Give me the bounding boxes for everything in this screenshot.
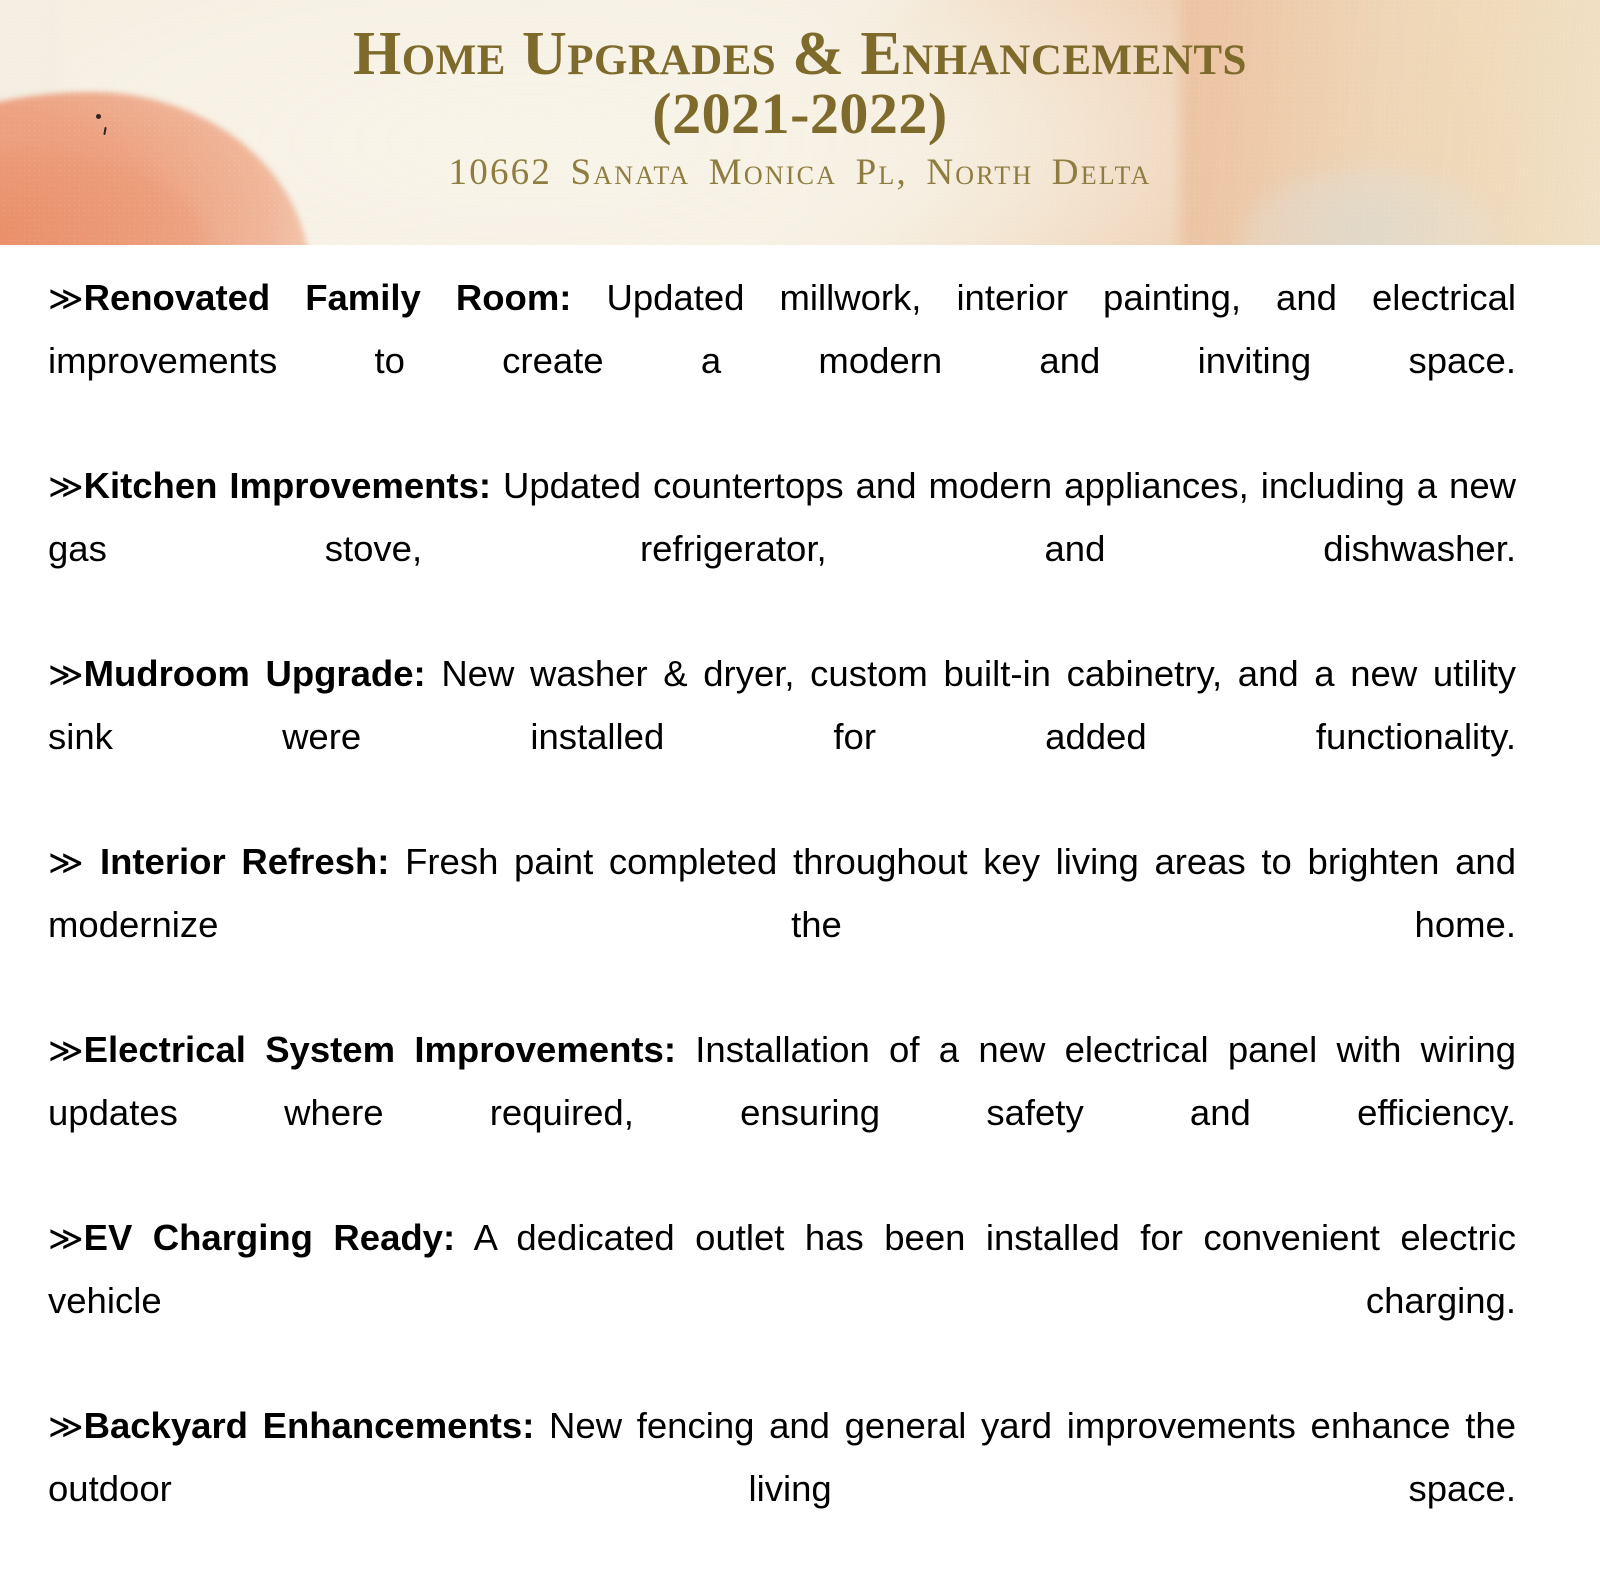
property-address: 10662 Sanata Monica Pl, North Delta xyxy=(0,154,1600,191)
double-chevron-icon: ≫ xyxy=(48,843,100,883)
list-item-heading: Backyard Enhancements: xyxy=(84,1405,535,1446)
double-chevron-icon: ≫ xyxy=(48,1219,84,1259)
double-chevron-icon: ≫ xyxy=(48,1031,84,1071)
list-item: ≫Backyard Enhancements: New fencing and … xyxy=(48,1395,1516,1582)
upgrades-list: ≫Renovated Family Room: Updated millwork… xyxy=(0,245,1600,1582)
page-title-line-2: (2021-2022) xyxy=(0,84,1600,144)
double-chevron-icon: ≫ xyxy=(48,467,84,507)
list-item-heading: Kitchen Improvements: xyxy=(84,465,491,506)
list-item-heading: Mudroom Upgrade: xyxy=(84,653,426,694)
list-item: ≫Mudroom Upgrade: New washer & dryer, cu… xyxy=(48,643,1516,830)
header-banner: Home Upgrades & Enhancements (2021-2022)… xyxy=(0,0,1600,245)
banner-text-block: Home Upgrades & Enhancements (2021-2022)… xyxy=(0,0,1600,191)
double-chevron-icon: ≫ xyxy=(48,279,84,319)
list-item: ≫ Interior Refresh: Fresh paint complete… xyxy=(48,831,1516,1018)
list-item-heading: EV Charging Ready: xyxy=(84,1217,456,1258)
double-chevron-icon: ≫ xyxy=(48,1407,84,1447)
list-item-heading: Interior Refresh: xyxy=(100,841,389,882)
page-title-line-1: Home Upgrades & Enhancements xyxy=(0,24,1600,84)
list-item: ≫Kitchen Improvements: Updated counterto… xyxy=(48,455,1516,642)
double-chevron-icon: ≫ xyxy=(48,655,84,695)
list-item: ≫Electrical System Improvements: Install… xyxy=(48,1019,1516,1206)
list-item: ≫EV Charging Ready: A dedicated outlet h… xyxy=(48,1207,1516,1394)
list-item-heading: Electrical System Improvements: xyxy=(84,1029,676,1070)
list-item-heading: Renovated Family Room: xyxy=(84,277,572,318)
list-item: ≫Renovated Family Room: Updated millwork… xyxy=(48,267,1516,454)
